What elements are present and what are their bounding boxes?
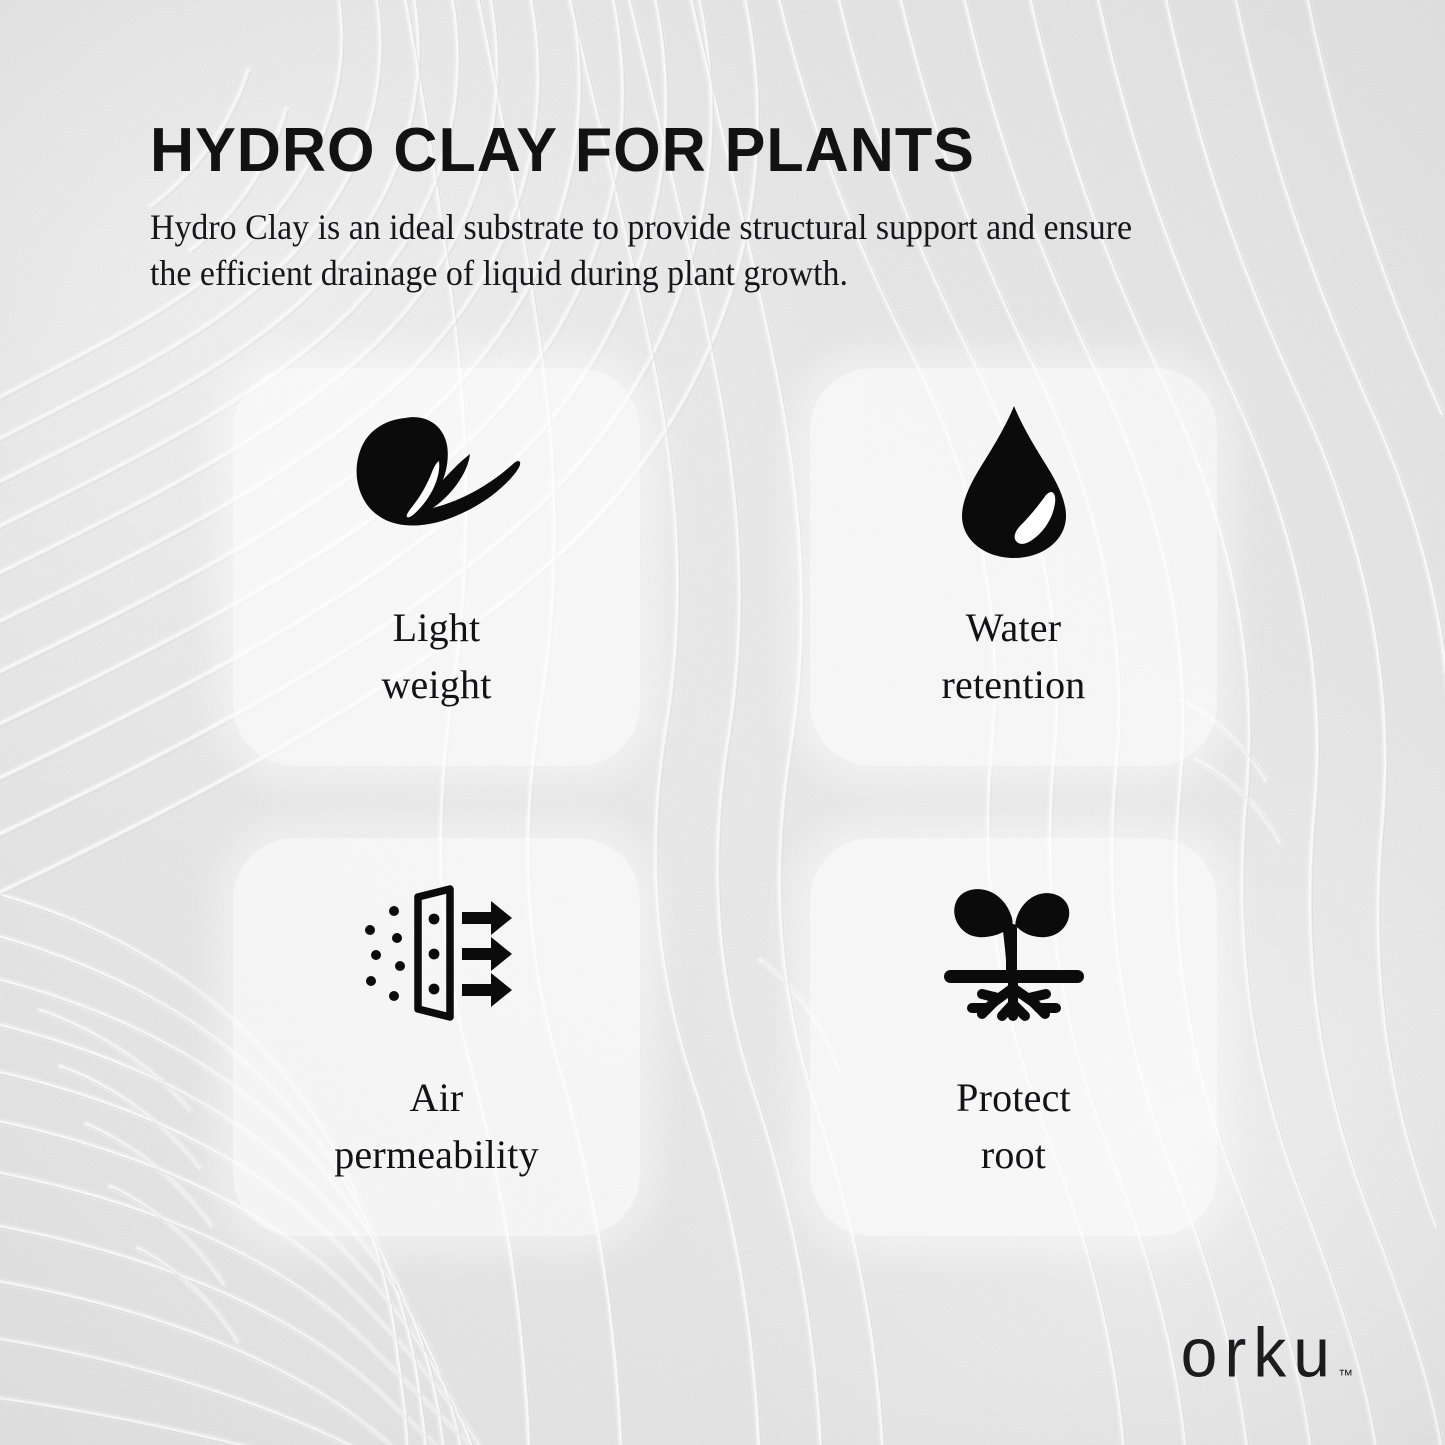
feature-label: Protect root [956, 1070, 1071, 1184]
feature-card-air-permeability[interactable]: Air permeability [233, 838, 640, 1236]
brand-logo: orku ™ [1181, 1321, 1353, 1387]
feature-card-grid: Light weight Water retention [233, 368, 1217, 1236]
infographic-canvas: HYDRO CLAY FOR PLANTS Hydro Clay is an i… [0, 0, 1445, 1445]
feature-label-line-1: Light [381, 600, 491, 657]
feature-icon-slot [233, 368, 640, 600]
page-title: HYDRO CLAY FOR PLANTS [150, 120, 1302, 182]
header-block: HYDRO CLAY FOR PLANTS Hydro Clay is an i… [150, 120, 1320, 296]
feature-label-line-2: root [956, 1127, 1071, 1184]
seedling-roots-icon [938, 884, 1090, 1026]
feature-label-line-1: Protect [956, 1070, 1071, 1127]
feature-label-line-2: retention [942, 657, 1086, 714]
subtitle-line-2: the efficient drainage of liquid during … [150, 250, 1258, 296]
feather-icon [348, 412, 534, 562]
feature-label-line-1: Air [334, 1070, 539, 1127]
air-permeability-membrane-icon [356, 883, 516, 1025]
feature-label: Light weight [381, 600, 491, 714]
feature-label-line-2: weight [381, 657, 491, 714]
feature-label: Water retention [942, 600, 1086, 714]
feature-icon-slot [810, 368, 1217, 600]
feature-label-line-2: permeability [334, 1127, 539, 1184]
feature-icon-slot [233, 838, 640, 1070]
feature-card-water-retention[interactable]: Water retention [810, 368, 1217, 766]
feature-label-line-1: Water [942, 600, 1086, 657]
brand-wordmark: orku [1181, 1317, 1337, 1387]
trademark-symbol: ™ [1338, 1367, 1353, 1384]
subtitle-line-1: Hydro Clay is an ideal substrate to prov… [150, 204, 1258, 250]
feature-card-protect-root[interactable]: Protect root [810, 838, 1217, 1236]
feature-label: Air permeability [334, 1070, 539, 1184]
feature-card-light-weight[interactable]: Light weight [233, 368, 640, 766]
water-drop-icon [956, 404, 1072, 560]
page-subtitle: Hydro Clay is an ideal substrate to prov… [150, 204, 1258, 296]
feature-icon-slot [810, 838, 1217, 1070]
